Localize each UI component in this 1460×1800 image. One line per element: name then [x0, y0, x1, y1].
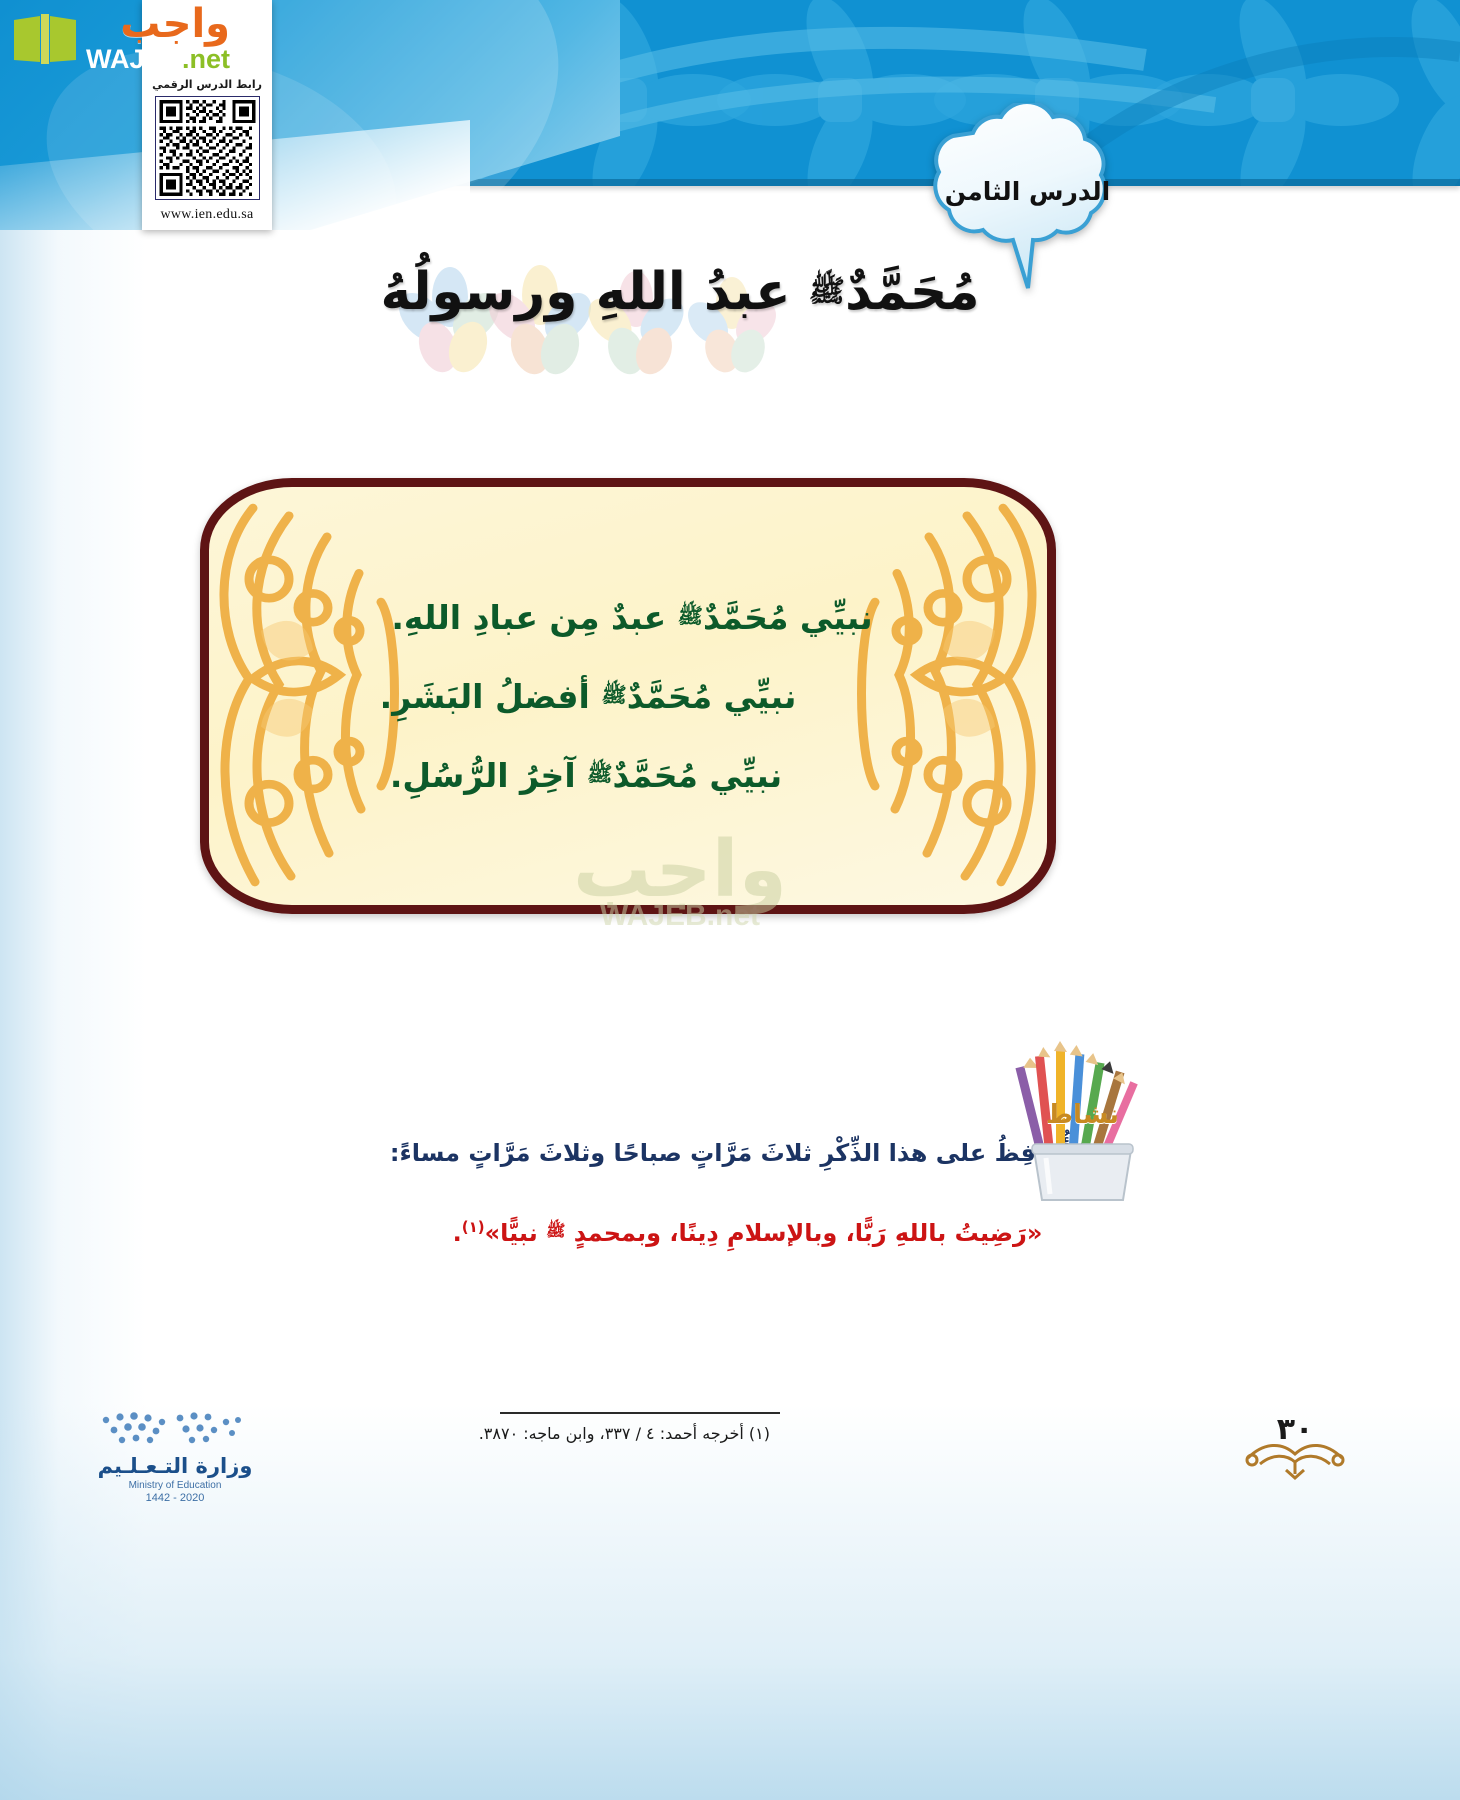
salawat-icon: ﷺ: [587, 762, 612, 786]
watermark-arabic: واجب: [86, 4, 230, 44]
statement-1-before: نبيِّي مُحَمَّدٌ: [703, 598, 873, 637]
moe-dots-icon: [60, 1408, 290, 1450]
statement-1-after: عبدٌ مِن عبادِ اللهِ.: [391, 598, 666, 637]
salawat-icon: ﷺ: [809, 274, 845, 309]
lesson-statement-2: نبيِّي مُحَمَّدٌﷺ أفضلُ البَشَرِ.: [263, 677, 913, 716]
qr-card-label: رابط الدرس الرقمي: [152, 78, 262, 91]
lesson-number-badge: الدرس الثامن: [925, 103, 1130, 303]
salawat-icon: ﷺ: [546, 1221, 565, 1240]
dhikr-after: نبيًّا»: [485, 1219, 538, 1247]
statement-2-after: أفضلُ البَشَرِ.: [380, 677, 590, 716]
page-root: واجب WAJEB.net رابط الدرس الرقمي: [0, 0, 1460, 1800]
title-part-after: عبدُ اللهِ ورسولُهُ: [380, 262, 790, 322]
statement-3-before: نبيِّي مُحَمَّدٌ: [613, 756, 783, 795]
qr-card-url: www.ien.edu.sa: [160, 207, 253, 223]
footnote-reference[interactable]: (١): [462, 1218, 485, 1236]
ministry-of-education-logo: وزارة التـعـلـيم Ministry of Education 2…: [60, 1408, 290, 1504]
footnote-separator: [500, 1412, 780, 1414]
footnote-text: (١) أخرجه أحمد: ٤ / ٣٣٧، وابن ماجه: ٣٨٧٠…: [350, 1424, 770, 1443]
wajeb-watermark-top: واجب WAJEB.net: [10, 4, 230, 73]
salawat-icon: ﷺ: [601, 683, 626, 707]
lesson-statements-list: نبيِّي مُحَمَّدٌﷺ عبدٌ مِن عبادِ اللهِ. …: [209, 487, 1047, 905]
page-number-frame: ٣٠: [1230, 1390, 1360, 1500]
statement-2-before: نبيِّي مُحَمَّدٌ: [627, 677, 797, 716]
page-number: ٣٠: [1230, 1412, 1360, 1447]
lesson-badge-label: الدرس الثامن: [925, 177, 1130, 206]
ministry-name-arabic: وزارة التـعـلـيم: [60, 1454, 290, 1478]
dhikr-period: .: [453, 1219, 462, 1247]
dhikr-before: «رَضِيتُ باللهِ رَبًّا، وبالإسلامِ دِينً…: [574, 1219, 1043, 1247]
salawat-icon: ﷺ: [678, 604, 703, 628]
ministry-name-english: Ministry of Education: [60, 1480, 290, 1491]
qr-code-icon[interactable]: [155, 96, 260, 200]
open-book-icon: [10, 10, 80, 68]
watermark-latin: WAJEB.net: [86, 46, 230, 73]
lesson-statement-3: نبيِّي مُحَمَّدٌﷺ آخِرُ الرُّسُلِ.: [263, 756, 909, 795]
lesson-content-box: نبيِّي مُحَمَّدٌﷺ عبدٌ مِن عبادِ اللهِ. …: [200, 478, 1056, 914]
statement-3-after: آخِرُ الرُّسُلِ.: [390, 756, 576, 795]
activity-badge-label: نشاط: [1010, 1100, 1155, 1130]
ministry-year: 2020 - 1442: [60, 1492, 290, 1504]
activity-dhikr-text: «رَضِيتُ باللهِ رَبًّا، وبالإسلامِ دِينً…: [275, 1218, 1220, 1247]
lesson-statement-1: نبيِّي مُحَمَّدٌﷺ عبدٌ مِن عبادِ اللهِ.: [263, 598, 1001, 637]
activity-icon: نشاط: [1010, 1040, 1155, 1205]
